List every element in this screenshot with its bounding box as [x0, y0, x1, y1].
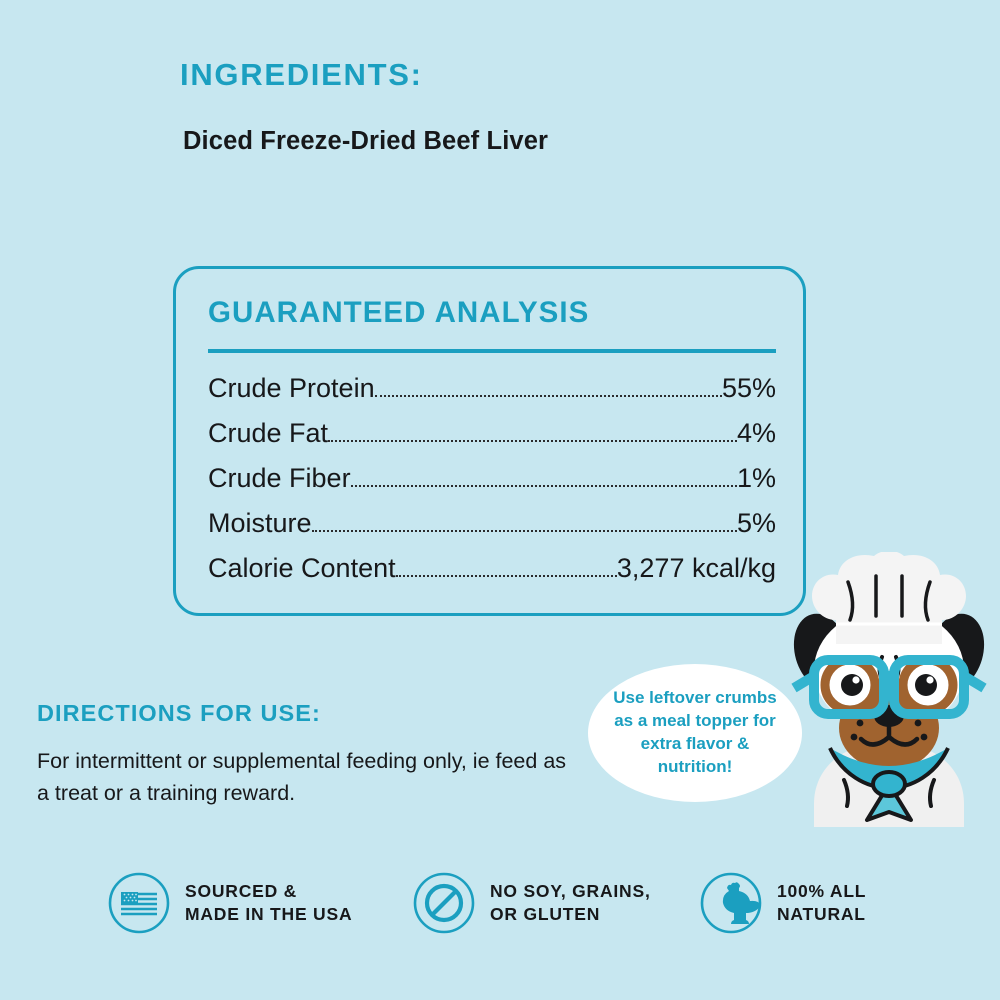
analysis-row-label: Crude Fat	[208, 418, 328, 449]
guaranteed-analysis-heading: GUARANTEED ANALYSIS	[208, 297, 773, 329]
chicken-icon	[700, 872, 762, 934]
directions-body: For intermittent or supplemental feeding…	[37, 746, 582, 810]
badge-label: 100% ALL NATURAL	[777, 880, 866, 927]
analysis-row-leader	[312, 530, 737, 532]
badge-sourced-made-in-usa: SOURCED & MADE IN THE USA	[108, 872, 352, 934]
directions-section: DIRECTIONS FOR USE: For intermittent or …	[37, 700, 597, 810]
chef-dog-illustration	[778, 552, 1000, 827]
analysis-row-label: Calorie Content	[208, 553, 396, 584]
mascot-group: Use leftover crumbs as a meal topper for…	[588, 552, 1000, 827]
badge-label: NO SOY, GRAINS, OR GLUTEN	[490, 880, 651, 927]
analysis-row: Crude Protein 55%	[208, 373, 776, 418]
prohibition-icon	[413, 872, 475, 934]
ingredients-value: Diced Freeze-Dried Beef Liver	[183, 127, 880, 156]
analysis-row: Crude Fat 4%	[208, 418, 776, 463]
ingredients-section: INGREDIENTS: Diced Freeze-Dried Beef Liv…	[180, 58, 880, 156]
analysis-row-leader	[375, 395, 722, 397]
analysis-row-label: Crude Fiber	[208, 463, 351, 494]
ingredients-heading: INGREDIENTS:	[180, 58, 880, 92]
analysis-divider	[208, 349, 776, 353]
analysis-row: Crude Fiber 1%	[208, 463, 776, 508]
directions-heading: DIRECTIONS FOR USE:	[37, 700, 597, 727]
analysis-row-label: Moisture	[208, 508, 312, 539]
analysis-row-value: 4%	[737, 418, 776, 449]
badge-label: SOURCED & MADE IN THE USA	[185, 880, 352, 927]
analysis-row-value: 1%	[737, 463, 776, 494]
analysis-row-label: Crude Protein	[208, 373, 375, 404]
usa-flag-icon	[108, 872, 170, 934]
analysis-row-value: 55%	[722, 373, 776, 404]
badge-100-all-natural: 100% ALL NATURAL	[700, 872, 866, 934]
speech-bubble: Use leftover crumbs as a meal topper for…	[588, 664, 802, 802]
badge-no-soy-grains-gluten: NO SOY, GRAINS, OR GLUTEN	[413, 872, 651, 934]
analysis-row-leader	[351, 485, 737, 487]
analysis-row-value: 5%	[737, 508, 776, 539]
analysis-row-leader	[328, 440, 737, 442]
analysis-row: Moisture 5%	[208, 508, 776, 553]
speech-bubble-text: Use leftover crumbs as a meal topper for…	[588, 687, 802, 779]
analysis-row-leader	[396, 575, 617, 577]
